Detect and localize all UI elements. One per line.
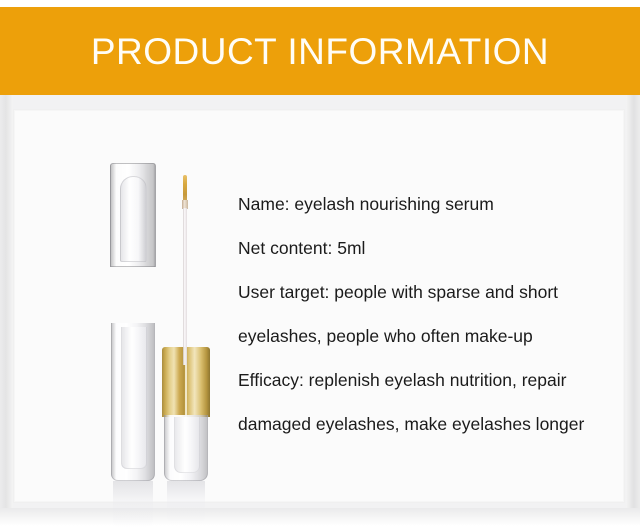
short-bottle-body-core: [174, 417, 200, 473]
panel-edge-bottom: [0, 508, 640, 526]
spec-line-user-target-cont: eyelashes, people who often make-up: [238, 314, 630, 358]
product-spec-list: Name: eyelash nourishing serum Net conte…: [238, 182, 630, 446]
spec-line-efficacy: Efficacy: replenish eyelash nutrition, r…: [238, 358, 630, 402]
wand-stem: [183, 208, 187, 365]
tall-tube-body: [111, 323, 155, 481]
tall-tube-cap: [110, 163, 156, 267]
tall-tube-reflection: [113, 481, 153, 527]
spec-line-net-content: Net content: 5ml: [238, 226, 630, 270]
product-tall-tube: [110, 163, 156, 481]
panel-edge-left: [0, 95, 13, 515]
tall-tube-body-core: [121, 327, 147, 469]
tall-tube-gold-band: [110, 263, 156, 325]
applicator-wand: [177, 175, 193, 365]
wand-brush-tip: [183, 175, 187, 201]
page-title: PRODUCT INFORMATION: [91, 33, 549, 70]
product-information-page: PRODUCT INFORMATION: [0, 0, 640, 526]
tall-tube-cap-inner: [120, 176, 147, 262]
product-short-bottle: [162, 347, 210, 481]
short-bottle-reflection: [167, 481, 205, 523]
short-bottle-body: [164, 415, 208, 481]
spec-line-user-target: User target: people with sparse and shor…: [238, 270, 630, 314]
content-panel: Name: eyelash nourishing serum Net conte…: [0, 95, 640, 526]
header-banner: PRODUCT INFORMATION: [0, 7, 640, 95]
spec-line-name: Name: eyelash nourishing serum: [238, 182, 630, 226]
product-image: [34, 115, 229, 500]
spec-line-efficacy-cont: damaged eyelashes, make eyelashes longer: [238, 402, 630, 446]
panel-inner: Name: eyelash nourishing serum Net conte…: [13, 109, 625, 503]
